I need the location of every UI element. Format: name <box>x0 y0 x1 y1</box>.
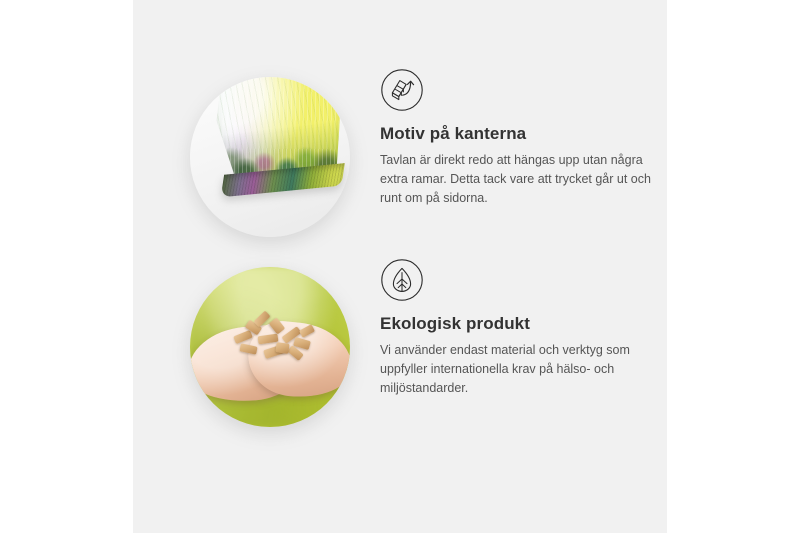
feature-title: Motiv på kanterna <box>380 124 667 144</box>
feature-text-column: Motiv på kanterna Tavlan är direkt redo … <box>380 68 667 208</box>
media-disc <box>190 267 350 427</box>
canvas-edge-print-icon <box>380 68 424 112</box>
media-disc <box>190 77 350 237</box>
leaf-icon <box>380 258 424 302</box>
feature-text-column: Ekologisk produkt Vi använder endast mat… <box>380 258 667 398</box>
wrapped-canvas-photo <box>190 77 350 237</box>
feature-block-edge-print: Motiv på kanterna Tavlan är direkt redo … <box>133 60 667 260</box>
feature-description: Tavlan är direkt redo att hängas upp uta… <box>380 151 658 208</box>
feature-description: Vi använder endast material och verktyg … <box>380 341 658 398</box>
feature-title: Ekologisk produkt <box>380 314 667 334</box>
hands-with-wood-chips-photo <box>190 267 350 427</box>
wood-chip-pile <box>230 313 322 365</box>
product-info-banner: Motiv på kanterna Tavlan är direkt redo … <box>0 0 800 533</box>
canvas-illustration <box>211 77 350 211</box>
feature-block-eco-product: Ekologisk produkt Vi använder endast mat… <box>133 250 667 450</box>
hands-illustration <box>190 311 350 407</box>
